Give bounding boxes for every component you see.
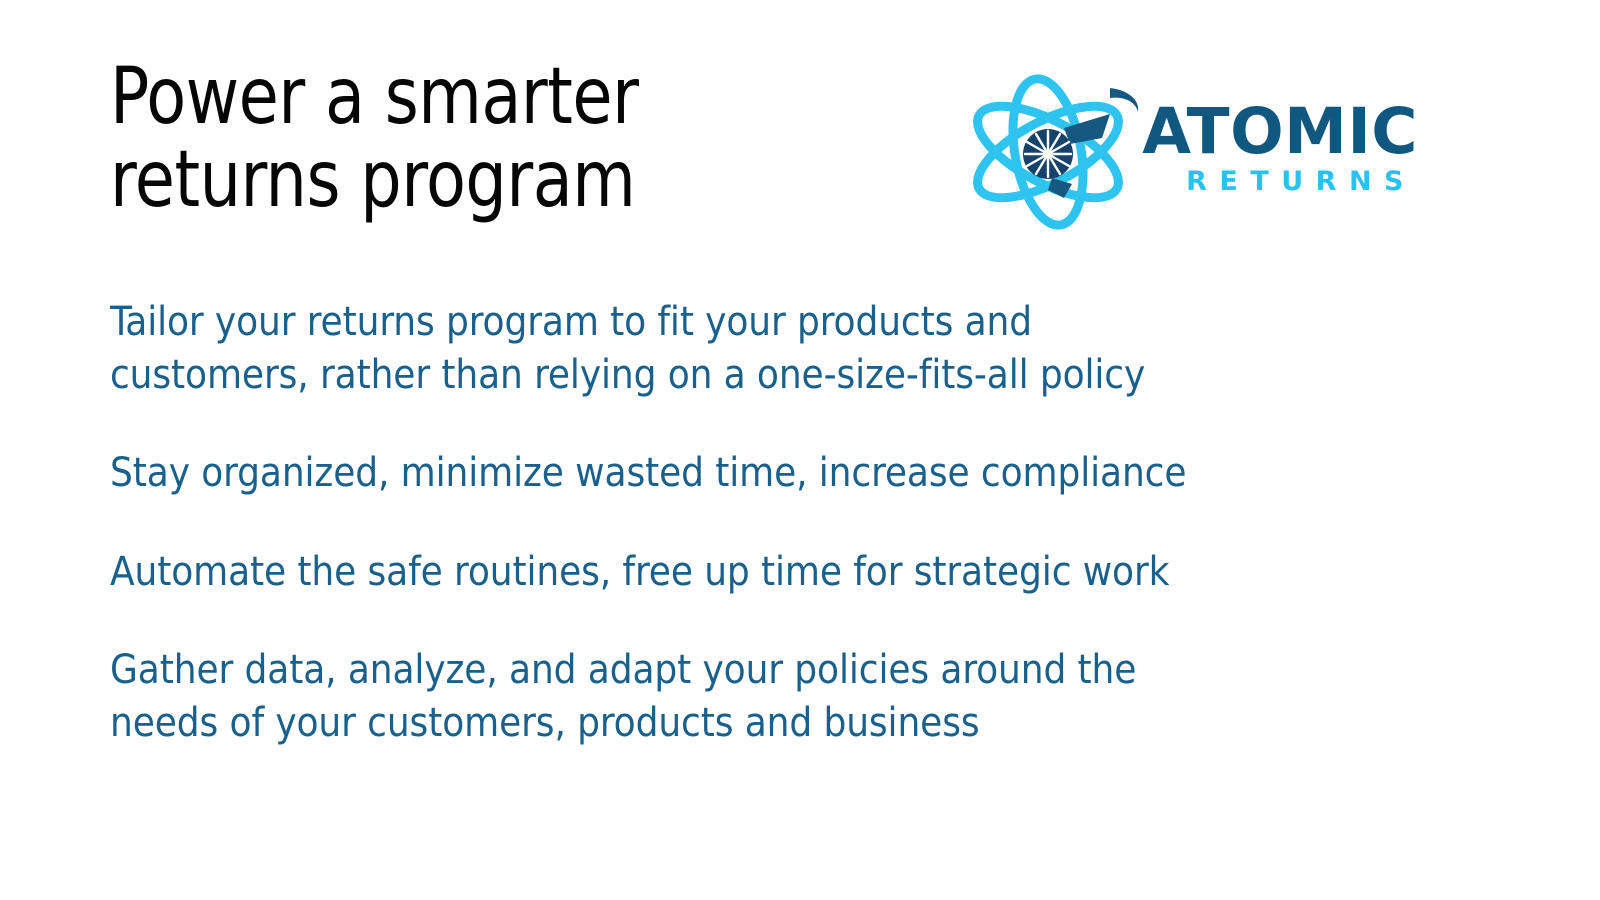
bullet-item: Stay organized, minimize wasted time, in… — [110, 447, 1440, 500]
atom-icon — [960, 62, 1150, 242]
logo-wordmark-primary: ATOMIC — [1142, 102, 1418, 162]
logo-wordmark-secondary: RETURNS — [1142, 166, 1418, 198]
logo-wordmark: ATOMIC RETURNS — [1142, 102, 1418, 202]
bullet-item: Gather data, analyze, and adapt your pol… — [110, 644, 1440, 750]
bullet-item: Automate the safe routines, free up time… — [110, 546, 1440, 599]
bullet-item: Tailor your returns program to fit your … — [110, 296, 1440, 402]
nucleus-core — [1043, 149, 1053, 159]
page-title: Power a smarter returns program — [110, 56, 638, 223]
atomic-returns-logo: ATOMIC RETURNS — [960, 62, 1418, 242]
slide-header: Power a smarter returns program — [110, 56, 1420, 256]
bullet-list: Tailor your returns program to fit your … — [110, 296, 1440, 750]
slide: Power a smarter returns program — [0, 0, 1600, 900]
